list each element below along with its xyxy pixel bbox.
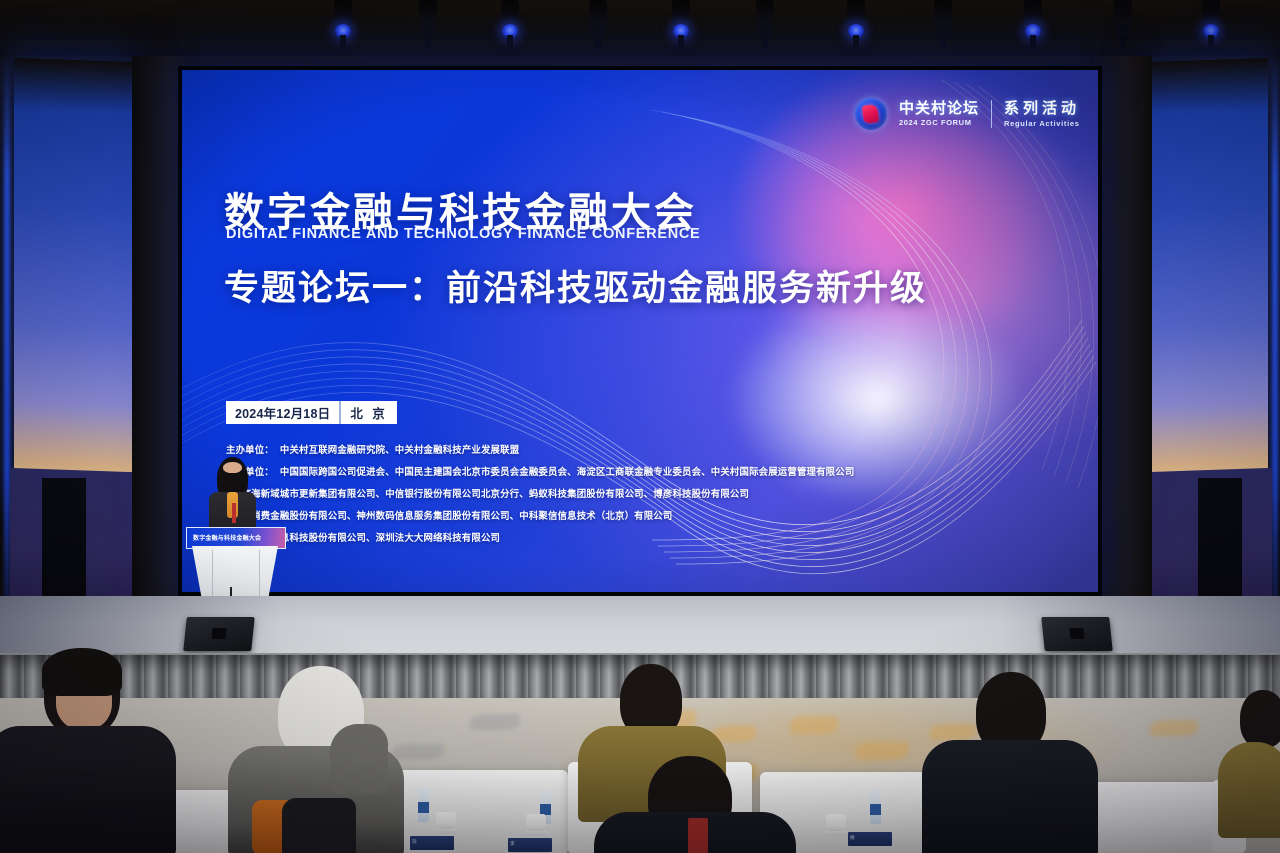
slide-title-en: DIGITAL FINANCE AND TECHNOLOGY FINANCE C…: [226, 226, 700, 242]
led-screen: 中关村论坛 2024 ZGC FORUM 系列活动 Regular Activi…: [182, 70, 1098, 592]
organizer-line: 主办单位：中关村互联网金融研究院、中关村金融科技产业发展联盟: [226, 442, 854, 456]
organizer-line: 马上消费金融股份有限公司、神州数码信息服务集团股份有限公司、中科聚信信息技术（北…: [226, 508, 854, 522]
stage-monitor-speaker-left: [183, 617, 255, 651]
teacup: [526, 814, 546, 831]
stage-light-icon: [330, 0, 356, 48]
stage-monitor-speaker-right: [1041, 617, 1113, 651]
organizer-value: 中关村互联网金融研究院、中关村金融科技产业发展联盟: [280, 444, 519, 455]
slide-city-badge: 北 京: [339, 401, 396, 424]
slide-date-badge: 2024年12月18日: [226, 401, 339, 424]
organizer-label: 主办单位：: [226, 444, 274, 455]
name-card-text: 李: [510, 841, 515, 847]
forum-logo-lockup: 中关村论坛 2024 ZGC FORUM 系列活动 Regular Activi…: [855, 98, 1080, 130]
stage-light-icon: [1110, 0, 1136, 48]
logo-brand-zh: 中关村论坛: [899, 101, 979, 116]
name-card: 杨: [848, 832, 892, 846]
logo-brand-en: 2024 ZGC FORUM: [899, 119, 979, 127]
name-card: 刘: [410, 836, 454, 850]
organizer-list: 主办单位：中关村互联网金融研究院、中关村金融科技产业发展联盟 支持单位：中国国际…: [226, 442, 854, 544]
logo-activity-zh: 系列活动: [1004, 101, 1080, 116]
organizer-value: 中国国际跨国公司促进会、中国民主建国会北京市委员会金融委员会、海淀区工商联金融专…: [280, 466, 855, 477]
logo-activity-en: Regular Activities: [1004, 120, 1080, 128]
podium-with-speaker: 数字金融与科技金融大会: [176, 455, 296, 615]
organizer-line: 支持单位：中国国际跨国公司促进会、中国民主建国会北京市委员会金融委员会、海淀区工…: [226, 464, 854, 478]
organizer-line: 北京海新域城市更新集团有限公司、中信银行股份有限公司北京分行、蚂蚁科技集团股份有…: [226, 486, 854, 500]
slide-meta-row: 2024年12月18日 北 京: [226, 401, 397, 424]
stage-light-icon: [497, 0, 523, 48]
stage-light-icon: [752, 0, 778, 48]
stage-light-icon: [843, 0, 869, 48]
organizer-value: 马上消费金融股份有限公司、神州数码信息服务集团股份有限公司、中科聚信信息技术（北…: [232, 510, 672, 521]
teacup: [826, 814, 846, 831]
stage-light-icon: [668, 0, 694, 48]
organizer-line: 上海合合信息科技股份有限公司、深圳法大大网络科技有限公司: [226, 530, 854, 544]
water-bottle: [418, 788, 429, 822]
teacup: [436, 812, 456, 829]
wall-accent-light: [1272, 58, 1278, 648]
name-card: 李: [508, 838, 552, 852]
organizer-value: 北京海新域城市更新集团有限公司、中信银行股份有限公司北京分行、蚂蚁科技集团股份有…: [232, 488, 749, 499]
stage-light-icon: [1198, 0, 1224, 48]
conference-stage-photo: 中关村论坛 2024 ZGC FORUM 系列活动 Regular Activi…: [0, 0, 1280, 853]
podium-banner-text: 数字金融与科技金融大会: [193, 533, 261, 542]
logo-divider: [991, 100, 992, 128]
stage-light-icon: [585, 0, 611, 48]
speaker-lanyard: [232, 503, 236, 523]
slide-subtitle-zh: 专题论坛一：前沿科技驱动金融服务新升级: [224, 260, 927, 311]
right-wall-light-panel: [1150, 58, 1268, 492]
podium-banner: 数字金融与科技金融大会: [186, 527, 286, 549]
name-card-text: 杨: [850, 835, 855, 841]
stage-light-icon: [1020, 0, 1046, 48]
left-wall-light-panel: [14, 58, 132, 492]
water-bottle: [870, 790, 881, 824]
stage-light-icon: [930, 0, 956, 48]
name-card-text: 刘: [412, 839, 417, 845]
zgc-forum-emblem-icon: [855, 98, 887, 130]
stage-light-icon: [415, 0, 441, 48]
